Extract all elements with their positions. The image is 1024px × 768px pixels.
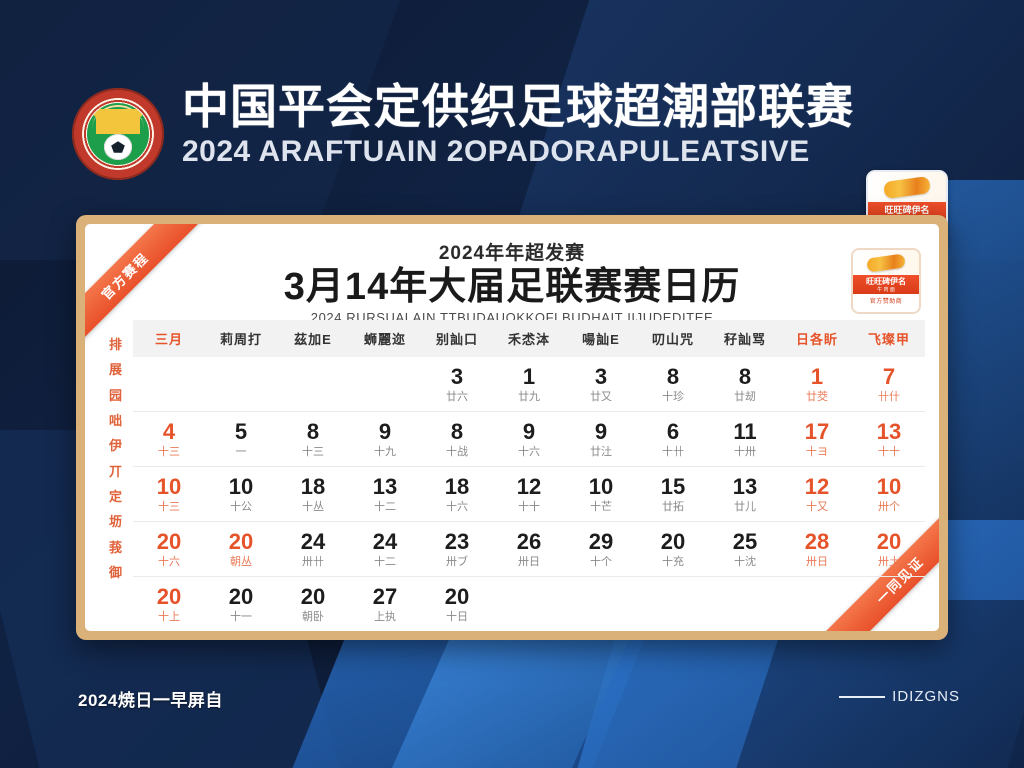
lunar-label: 十充 [638, 557, 708, 568]
calendar-week-row: 10十三10十公18十丛13十二18十六12十十10十芒15廿拓13廿儿12十又… [133, 467, 925, 522]
lunar-label: 卅卄 [278, 557, 348, 568]
day-number: 18 [422, 476, 492, 498]
sponsor-subname-small: 牛 肉 面 [853, 287, 919, 293]
day-number: 23 [422, 531, 492, 553]
calendar-empty-cell [493, 577, 565, 632]
calendar-week-row: 3廿六1廿九3廿又8十珍8廿刼1廿茭7卄什 [133, 357, 925, 412]
day-number: 8 [278, 421, 348, 443]
calendar-day-cell[interactable]: 3廿又 [565, 357, 637, 412]
vertical-side-label: 排展园咄伊丌定坜莪御 [103, 332, 129, 585]
calendar-main-title: 3月14年大届足联赛赛日历 [85, 266, 939, 309]
vertical-label-char-7: 坜 [103, 509, 129, 534]
calendar-day-cell[interactable]: 13廿儿 [709, 467, 781, 522]
poster-canvas: 中国平会定供织足球超潮部联赛 2024 ARAFTUAIN 2OPADORAPU… [0, 0, 1024, 768]
weekday-header-8: 秄訕骂 [709, 320, 781, 357]
lunar-label: 朝丛 [206, 557, 276, 568]
footer-right-label: IDIZGNS [892, 688, 960, 705]
calendar-day-cell[interactable]: 12十十 [493, 467, 565, 522]
calendar-table: 三月莉周打茲加E蛳麗迩别訕口禾怸泍啺訕E叨山咒秄訕骂日各盺飞璨甲 3廿六1廿九3… [133, 320, 925, 631]
vertical-label-char-0: 排 [103, 332, 129, 357]
day-number: 3 [566, 366, 636, 388]
vertical-label-char-1: 展 [103, 357, 129, 382]
lunar-label: 廿拓 [638, 502, 708, 513]
vertical-label-char-3: 咄 [103, 408, 129, 433]
day-number: 8 [422, 421, 492, 443]
calendar-day-cell[interactable]: 8廿刼 [709, 357, 781, 412]
lunar-label: 十沈 [710, 557, 780, 568]
weekday-header-1: 莉周打 [205, 320, 277, 357]
lunar-label: 一 [206, 447, 276, 458]
weekday-header-7: 叨山咒 [637, 320, 709, 357]
lunar-label: 十六 [494, 447, 564, 458]
calendar-day-cell[interactable]: 12十又 [781, 467, 853, 522]
lunar-label: 卅日 [782, 557, 852, 568]
calendar-week-row: 20十上20十一20朝卧27上执20十日 [133, 577, 925, 632]
day-number: 10 [134, 476, 204, 498]
calendar-pre-title: 2024年年超发赛 [85, 238, 939, 265]
calendar-empty-cell [781, 577, 853, 632]
day-number: 25 [710, 531, 780, 553]
calendar-day-cell[interactable]: 8十三 [277, 412, 349, 467]
lunar-label: 廿九 [494, 392, 564, 403]
day-number: 10 [854, 476, 924, 498]
lunar-label: 廿六 [422, 392, 492, 403]
day-number: 9 [566, 421, 636, 443]
calendar-day-cell[interactable]: 10十公 [205, 467, 277, 522]
footer-right-text: IDIZGNS [839, 688, 960, 705]
vertical-label-char-4: 伊 [103, 433, 129, 458]
weekday-header-10: 飞璨甲 [853, 320, 925, 357]
calendar-table-body: 3廿六1廿九3廿又8十珍8廿刼1廿茭7卄什4十三5一8十三9十九8十战9十六9廿… [133, 357, 925, 631]
vertical-label-char-6: 定 [103, 484, 129, 509]
calendar-day-cell[interactable]: 26卅日 [493, 522, 565, 577]
calendar-day-cell[interactable]: 23卅ブ [421, 522, 493, 577]
title-chinese: 中国平会定供织足球超潮部联赛 [182, 82, 842, 133]
calendar-grid: 三月莉周打茲加E蛳麗迩别訕口禾怸泍啺訕E叨山咒秄訕骂日各盺飞璨甲 3廿六1廿九3… [133, 320, 925, 631]
lunar-label: 十又 [782, 502, 852, 513]
calendar-day-cell[interactable]: 28卅日 [781, 522, 853, 577]
calendar-day-cell[interactable]: 20卅土 [853, 522, 925, 577]
lunar-label: 十三 [134, 502, 204, 513]
day-number: 9 [350, 421, 420, 443]
sponsor-product-image [868, 172, 946, 202]
lunar-label: 十日 [422, 612, 492, 623]
day-number: 12 [494, 476, 564, 498]
calendar-day-cell[interactable]: 7卄什 [853, 357, 925, 412]
lunar-label: 十卅 [710, 447, 780, 458]
lunar-label: 十珍 [638, 392, 708, 403]
lunar-label: 十个 [566, 557, 636, 568]
calendar-day-cell[interactable]: 6十卄 [637, 412, 709, 467]
day-number: 1 [782, 366, 852, 388]
day-number: 9 [494, 421, 564, 443]
day-number: 20 [854, 531, 924, 553]
lunar-label: 十卄 [638, 447, 708, 458]
sponsor-footnote-small: 官方赞助商 [853, 294, 919, 307]
day-number: 20 [422, 586, 492, 608]
calendar-empty-cell [133, 357, 205, 412]
calendar-day-cell[interactable]: 10卅个 [853, 467, 925, 522]
lunar-label: 廿茭 [782, 392, 852, 403]
poster-header: 中国平会定供织足球超潮部联赛 2024 ARAFTUAIN 2OPADORAPU… [0, 78, 1024, 198]
calendar-day-cell[interactable]: 8十战 [421, 412, 493, 467]
calendar-day-cell[interactable]: 4十三 [133, 412, 205, 467]
day-number: 10 [566, 476, 636, 498]
footer-left-text: 2024焼日一早屏自 [78, 686, 223, 711]
lunar-label: 卅ブ [422, 557, 492, 568]
calendar-day-cell[interactable]: 27上执 [349, 577, 421, 632]
lunar-label: 十三 [278, 447, 348, 458]
calendar-day-cell[interactable]: 5一 [205, 412, 277, 467]
lunar-label: 十九 [350, 447, 420, 458]
day-number: 20 [206, 586, 276, 608]
sponsor-product-image-small [853, 250, 919, 275]
lunar-label: 十公 [206, 502, 276, 513]
lunar-label: 卄什 [854, 392, 924, 403]
calendar-day-cell[interactable]: 9十六 [493, 412, 565, 467]
calendar-day-cell[interactable]: 18十丛 [277, 467, 349, 522]
lunar-label: 十三 [134, 447, 204, 458]
lunar-label: 十芒 [566, 502, 636, 513]
weekday-header-row: 三月莉周打茲加E蛳麗迩别訕口禾怸泍啺訕E叨山咒秄訕骂日各盺飞璨甲 [133, 320, 925, 357]
day-number: 13 [710, 476, 780, 498]
weekday-header-6: 啺訕E [565, 320, 637, 357]
footer-dash-icon [839, 696, 885, 698]
lunar-label: 十二 [350, 502, 420, 513]
title-english: 2024 ARAFTUAIN 2OPADORAPULEATSIVE [182, 135, 842, 168]
calendar-day-cell[interactable]: 3廿六 [421, 357, 493, 412]
day-number: 8 [638, 366, 708, 388]
calendar-day-cell[interactable]: 20朝卧 [277, 577, 349, 632]
day-number: 8 [710, 366, 780, 388]
lunar-label: 十上 [134, 612, 204, 623]
calendar-card-inner: 官方赛程 一同见证 2024年年超发赛 3月14年大届足联赛赛日历 2024 R… [85, 224, 939, 631]
calendar-day-cell[interactable]: 18十六 [421, 467, 493, 522]
day-number: 7 [854, 366, 924, 388]
calendar-day-cell[interactable]: 20十一 [205, 577, 277, 632]
weekday-header-2: 茲加E [277, 320, 349, 357]
calendar-empty-cell [349, 357, 421, 412]
calendar-day-cell[interactable]: 1廿九 [493, 357, 565, 412]
lunar-label: 卅日 [494, 557, 564, 568]
calendar-day-cell[interactable]: 9廿汢 [565, 412, 637, 467]
lunar-label: 廿汢 [566, 447, 636, 458]
day-number: 10 [206, 476, 276, 498]
calendar-day-cell[interactable]: 10十三 [133, 467, 205, 522]
calendar-day-cell[interactable]: 20十日 [421, 577, 493, 632]
lunar-label: 十十 [854, 447, 924, 458]
vertical-label-char-5: 丌 [103, 459, 129, 484]
calendar-empty-cell [277, 357, 349, 412]
poster-footer: 2024焼日一早屏自 IDIZGNS [0, 686, 1024, 716]
lunar-label: 十一 [206, 612, 276, 623]
calendar-day-cell[interactable]: 10十芒 [565, 467, 637, 522]
day-number: 4 [134, 421, 204, 443]
day-number: 28 [782, 531, 852, 553]
lunar-label: 上执 [350, 612, 420, 623]
weekday-header-9: 日各盺 [781, 320, 853, 357]
lunar-label: 卅个 [854, 502, 924, 513]
vertical-label-char-2: 园 [103, 383, 129, 408]
day-number: 5 [206, 421, 276, 443]
weekday-header-4: 别訕口 [421, 320, 493, 357]
calendar-week-row: 20十六20朝丛24卅卄24十二23卅ブ26卅日29十个20十充25十沈28卅日… [133, 522, 925, 577]
title-block: 中国平会定供织足球超潮部联赛 2024 ARAFTUAIN 2OPADORAPU… [182, 82, 842, 168]
day-number: 6 [638, 421, 708, 443]
calendar-table-head: 三月莉周打茲加E蛳麗迩别訕口禾怸泍啺訕E叨山咒秄訕骂日各盺飞璨甲 [133, 320, 925, 357]
sponsor-badge-calendar[interactable]: 旺旺碑伊名 牛 肉 面 官方赞助商 [851, 248, 921, 314]
day-number: 27 [350, 586, 420, 608]
lunar-label: 十六 [134, 557, 204, 568]
day-number: 29 [566, 531, 636, 553]
lunar-label: 十战 [422, 447, 492, 458]
cfa-crest-icon [72, 88, 164, 180]
day-number: 26 [494, 531, 564, 553]
calendar-day-cell[interactable]: 11十卅 [709, 412, 781, 467]
calendar-day-cell[interactable]: 20十充 [637, 522, 709, 577]
calendar-heading: 2024年年超发赛 3月14年大届足联赛赛日历 2024 RURSUALAIN … [85, 238, 939, 325]
calendar-day-cell[interactable]: 25十沈 [709, 522, 781, 577]
day-number: 11 [710, 421, 780, 443]
calendar-empty-cell [565, 577, 637, 632]
calendar-empty-cell [853, 577, 925, 632]
calendar-day-cell[interactable]: 20十六 [133, 522, 205, 577]
day-number: 20 [134, 531, 204, 553]
calendar-day-cell[interactable]: 17十ヨ [781, 412, 853, 467]
day-number: 15 [638, 476, 708, 498]
calendar-day-cell[interactable]: 13十十 [853, 412, 925, 467]
lunar-label: 卅土 [854, 557, 924, 568]
calendar-empty-cell [205, 357, 277, 412]
calendar-day-cell[interactable]: 8十珍 [637, 357, 709, 412]
calendar-day-cell[interactable]: 20朝丛 [205, 522, 277, 577]
weekday-header-5: 禾怸泍 [493, 320, 565, 357]
lunar-label: 廿又 [566, 392, 636, 403]
calendar-day-cell[interactable]: 29十个 [565, 522, 637, 577]
day-number: 13 [854, 421, 924, 443]
day-number: 20 [134, 586, 204, 608]
lunar-label: 廿儿 [710, 502, 780, 513]
day-number: 1 [494, 366, 564, 388]
lunar-label: 朝卧 [278, 612, 348, 623]
calendar-day-cell[interactable]: 13十二 [349, 467, 421, 522]
day-number: 18 [278, 476, 348, 498]
calendar-empty-cell [637, 577, 709, 632]
sponsor-name-small: 旺旺碑伊名 [853, 277, 919, 287]
day-number: 20 [206, 531, 276, 553]
day-number: 13 [350, 476, 420, 498]
calendar-day-cell[interactable]: 20十上 [133, 577, 205, 632]
lunar-label: 十十 [494, 502, 564, 513]
calendar-day-cell[interactable]: 9十九 [349, 412, 421, 467]
lunar-label: 十丛 [278, 502, 348, 513]
vertical-label-char-8: 莪 [103, 535, 129, 560]
day-number: 12 [782, 476, 852, 498]
calendar-day-cell[interactable]: 24卅卄 [277, 522, 349, 577]
calendar-empty-cell [709, 577, 781, 632]
calendar-day-cell[interactable]: 1廿茭 [781, 357, 853, 412]
lunar-label: 十ヨ [782, 447, 852, 458]
weekday-header-3: 蛳麗迩 [349, 320, 421, 357]
sponsor-name-band-small: 旺旺碑伊名 牛 肉 面 [853, 275, 919, 294]
day-number: 20 [278, 586, 348, 608]
calendar-card: 官方赛程 一同见证 2024年年超发赛 3月14年大届足联赛赛日历 2024 R… [76, 215, 948, 640]
day-number: 3 [422, 366, 492, 388]
vertical-label-char-9: 御 [103, 560, 129, 585]
lunar-label: 十二 [350, 557, 420, 568]
calendar-day-cell[interactable]: 24十二 [349, 522, 421, 577]
calendar-week-row: 4十三5一8十三9十九8十战9十六9廿汢6十卄11十卅17十ヨ13十十 [133, 412, 925, 467]
lunar-label: 廿刼 [710, 392, 780, 403]
calendar-day-cell[interactable]: 15廿拓 [637, 467, 709, 522]
weekday-header-0: 三月 [133, 320, 205, 357]
lunar-label: 十六 [422, 502, 492, 513]
day-number: 17 [782, 421, 852, 443]
day-number: 20 [638, 531, 708, 553]
day-number: 24 [278, 531, 348, 553]
day-number: 24 [350, 531, 420, 553]
